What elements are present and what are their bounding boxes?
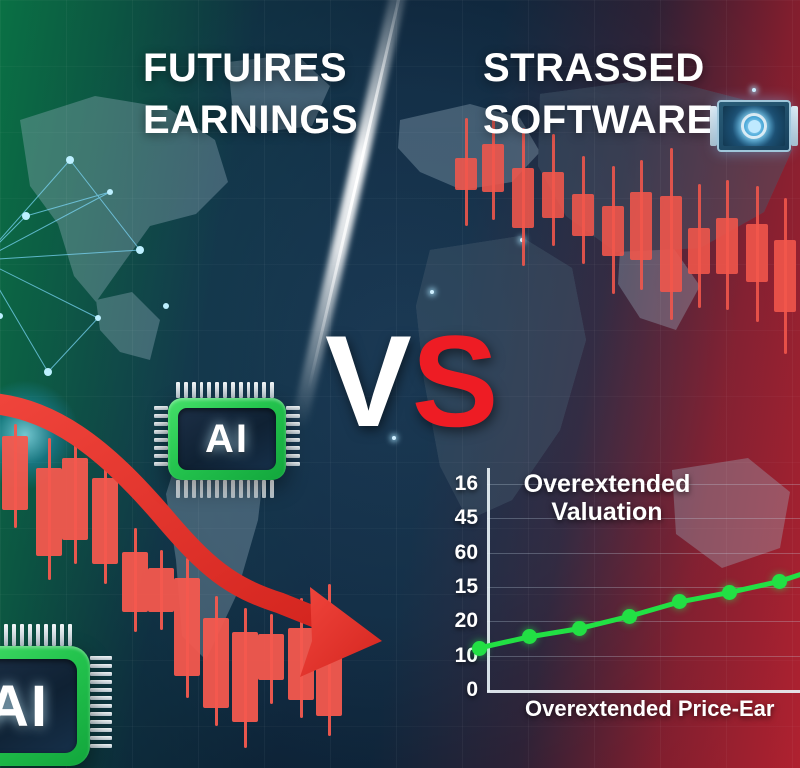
- candle-body: [542, 172, 564, 218]
- chip-pin: [286, 414, 300, 418]
- monitor-icon: [717, 100, 791, 152]
- chip-pin: [286, 422, 300, 426]
- candle-body: [482, 144, 504, 192]
- network-node-icon: [0, 120, 230, 400]
- chip-pin: [90, 656, 112, 660]
- chip-pin: [247, 480, 251, 498]
- chart-y-tick-label: 45: [432, 507, 478, 528]
- chip-pin: [223, 382, 227, 398]
- chip-pins-bottom: [176, 480, 278, 498]
- chip-pin: [4, 624, 8, 646]
- chip-pin: [90, 696, 112, 700]
- versus-v: V: [325, 308, 412, 454]
- chip-pin: [286, 454, 300, 458]
- chip-pin: [90, 680, 112, 684]
- candle-body: [572, 194, 594, 236]
- chip-pin: [207, 382, 211, 398]
- chip-pin: [270, 480, 274, 498]
- chip-pin: [154, 422, 168, 426]
- chip-pin: [176, 382, 180, 398]
- chip-pin: [184, 382, 188, 398]
- candle-body: [774, 240, 796, 312]
- chip-pin: [36, 624, 40, 646]
- sparkle: [430, 290, 434, 294]
- chart-y-tick-label: 20: [432, 610, 478, 631]
- chip-die: AI: [178, 408, 276, 470]
- chip-pin: [20, 624, 24, 646]
- valuation-line-chart: 1645601520100 Overextended Valuation Ove…: [430, 468, 800, 718]
- chip-pin: [215, 382, 219, 398]
- candle-body: [660, 196, 682, 292]
- chip-pin: [286, 430, 300, 434]
- chart-x-axis: [487, 690, 800, 693]
- chip-pin: [60, 624, 64, 646]
- chip-pin: [28, 624, 32, 646]
- chip-pins-left: [154, 406, 168, 472]
- candle-body: [602, 206, 624, 256]
- chip-pin: [270, 382, 274, 398]
- chip-pin: [247, 382, 251, 398]
- chip-pin: [12, 624, 16, 646]
- chip-pins-top: [0, 624, 80, 646]
- candle-body: [630, 192, 652, 260]
- chip-pin: [254, 382, 258, 398]
- chip-pin: [90, 736, 112, 740]
- chart-data-point: [572, 621, 587, 636]
- chip-pin: [262, 480, 266, 498]
- chip-pins-right: [286, 406, 300, 472]
- page-title-left: FUTUIRES EARNINGS: [143, 42, 358, 146]
- chip-pin: [90, 744, 112, 748]
- candle-body: [746, 224, 768, 282]
- chart-data-point: [522, 629, 537, 644]
- monitor-bezel-right: [791, 106, 798, 146]
- chip-pin: [207, 480, 211, 498]
- candle-body: [512, 168, 534, 228]
- chip-pin: [90, 664, 112, 668]
- chip-pin: [239, 382, 243, 398]
- chip-pin: [154, 462, 168, 466]
- ai-chip-icon-corner: AI: [0, 646, 90, 766]
- chart-y-tick-label: 60: [432, 542, 478, 563]
- chip-pin: [154, 406, 168, 410]
- chip-pin: [154, 454, 168, 458]
- versus-s: S: [412, 308, 499, 454]
- sparkle: [752, 88, 756, 92]
- chip-pin: [68, 624, 72, 646]
- candle-body: [688, 228, 710, 274]
- chart-data-point: [472, 641, 487, 656]
- monitor-bezel-left: [710, 106, 717, 146]
- chip-pin: [192, 382, 196, 398]
- chip-pin: [286, 462, 300, 466]
- chart-x-axis-label: Overextended Price-Ear: [525, 696, 774, 722]
- versus-label: VS: [325, 318, 498, 444]
- chip-pin: [90, 688, 112, 692]
- chip-pin: [286, 446, 300, 450]
- chip-pin: [90, 704, 112, 708]
- chip-pin: [90, 672, 112, 676]
- chip-pin: [286, 406, 300, 410]
- ai-chip-icon-center: AI: [168, 398, 286, 480]
- chip-pin: [90, 712, 112, 716]
- chip-pin: [184, 480, 188, 498]
- chip-pin: [154, 446, 168, 450]
- chip-pin: [154, 430, 168, 434]
- chip-pin: [192, 480, 196, 498]
- chip-pin: [44, 624, 48, 646]
- chip-pin: [90, 728, 112, 732]
- chart-y-tick-label: 15: [432, 576, 478, 597]
- chart-y-tick-label: 0: [432, 679, 478, 700]
- chip-pins-right: [90, 656, 112, 756]
- chip-pin: [200, 480, 204, 498]
- chip-pin: [215, 480, 219, 498]
- page-title-right: STRASSED SOFTWARE: [483, 42, 714, 146]
- chip-pins-top: [176, 382, 278, 398]
- chip-pin: [154, 414, 168, 418]
- chip-label: AI: [0, 673, 49, 740]
- monitor-core: [748, 120, 761, 133]
- chip-pin: [262, 382, 266, 398]
- chip-label: AI: [205, 417, 249, 462]
- chart-data-point: [622, 609, 637, 624]
- chip-pin: [176, 480, 180, 498]
- chip-pin: [200, 382, 204, 398]
- chip-die: AI: [0, 659, 77, 753]
- chip-pin: [90, 720, 112, 724]
- chart-y-tick-label: 16: [432, 473, 478, 494]
- chip-pin: [52, 624, 56, 646]
- chip-pin: [231, 382, 235, 398]
- chip-pin: [154, 438, 168, 442]
- candle-body: [716, 218, 738, 274]
- chip-pin: [286, 438, 300, 442]
- infographic-banner: FUTUIRES EARNINGS STRASSED SOFTWARE VS A…: [0, 0, 800, 768]
- chart-plot-area: [487, 484, 800, 690]
- chip-pin: [239, 480, 243, 498]
- chip-pin: [231, 480, 235, 498]
- chip-pin: [254, 480, 258, 498]
- chip-pin: [223, 480, 227, 498]
- candle-body: [455, 158, 477, 190]
